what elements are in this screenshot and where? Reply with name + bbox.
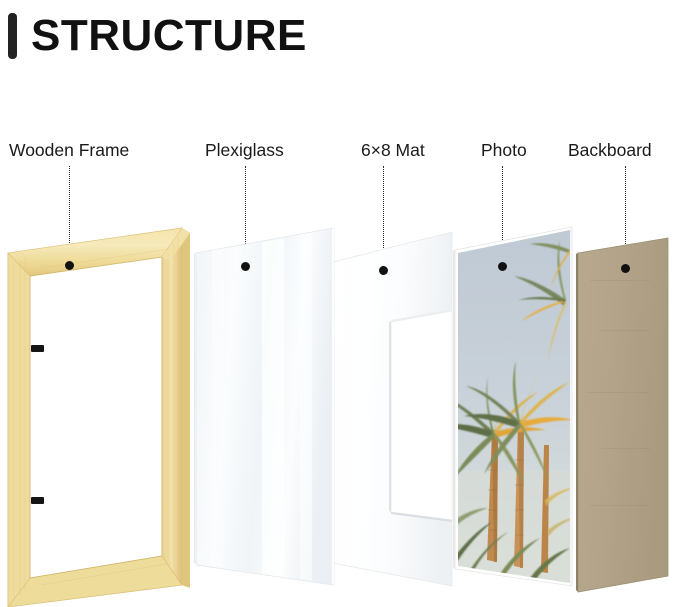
exploded-view-diagram (0, 0, 679, 607)
layer-plexiglass (194, 228, 334, 585)
frame-hardware-tab-upper (31, 345, 44, 352)
leader-dot-photo (498, 262, 507, 271)
photo-image (438, 225, 575, 590)
frame-hardware-tab-lower (31, 497, 44, 504)
infographic-page: STRUCTURE Wooden Frame Plexiglass 6×8 Ma… (0, 0, 679, 607)
leader-dot-wooden-frame (65, 261, 74, 270)
layer-wooden-frame (8, 228, 190, 607)
layer-mat (331, 232, 452, 586)
leader-dot-backboard (621, 264, 630, 273)
leader-dot-plexiglass (241, 262, 250, 271)
layer-photo (438, 225, 575, 590)
layer-backboard (576, 238, 668, 592)
leader-dot-mat (379, 266, 388, 275)
